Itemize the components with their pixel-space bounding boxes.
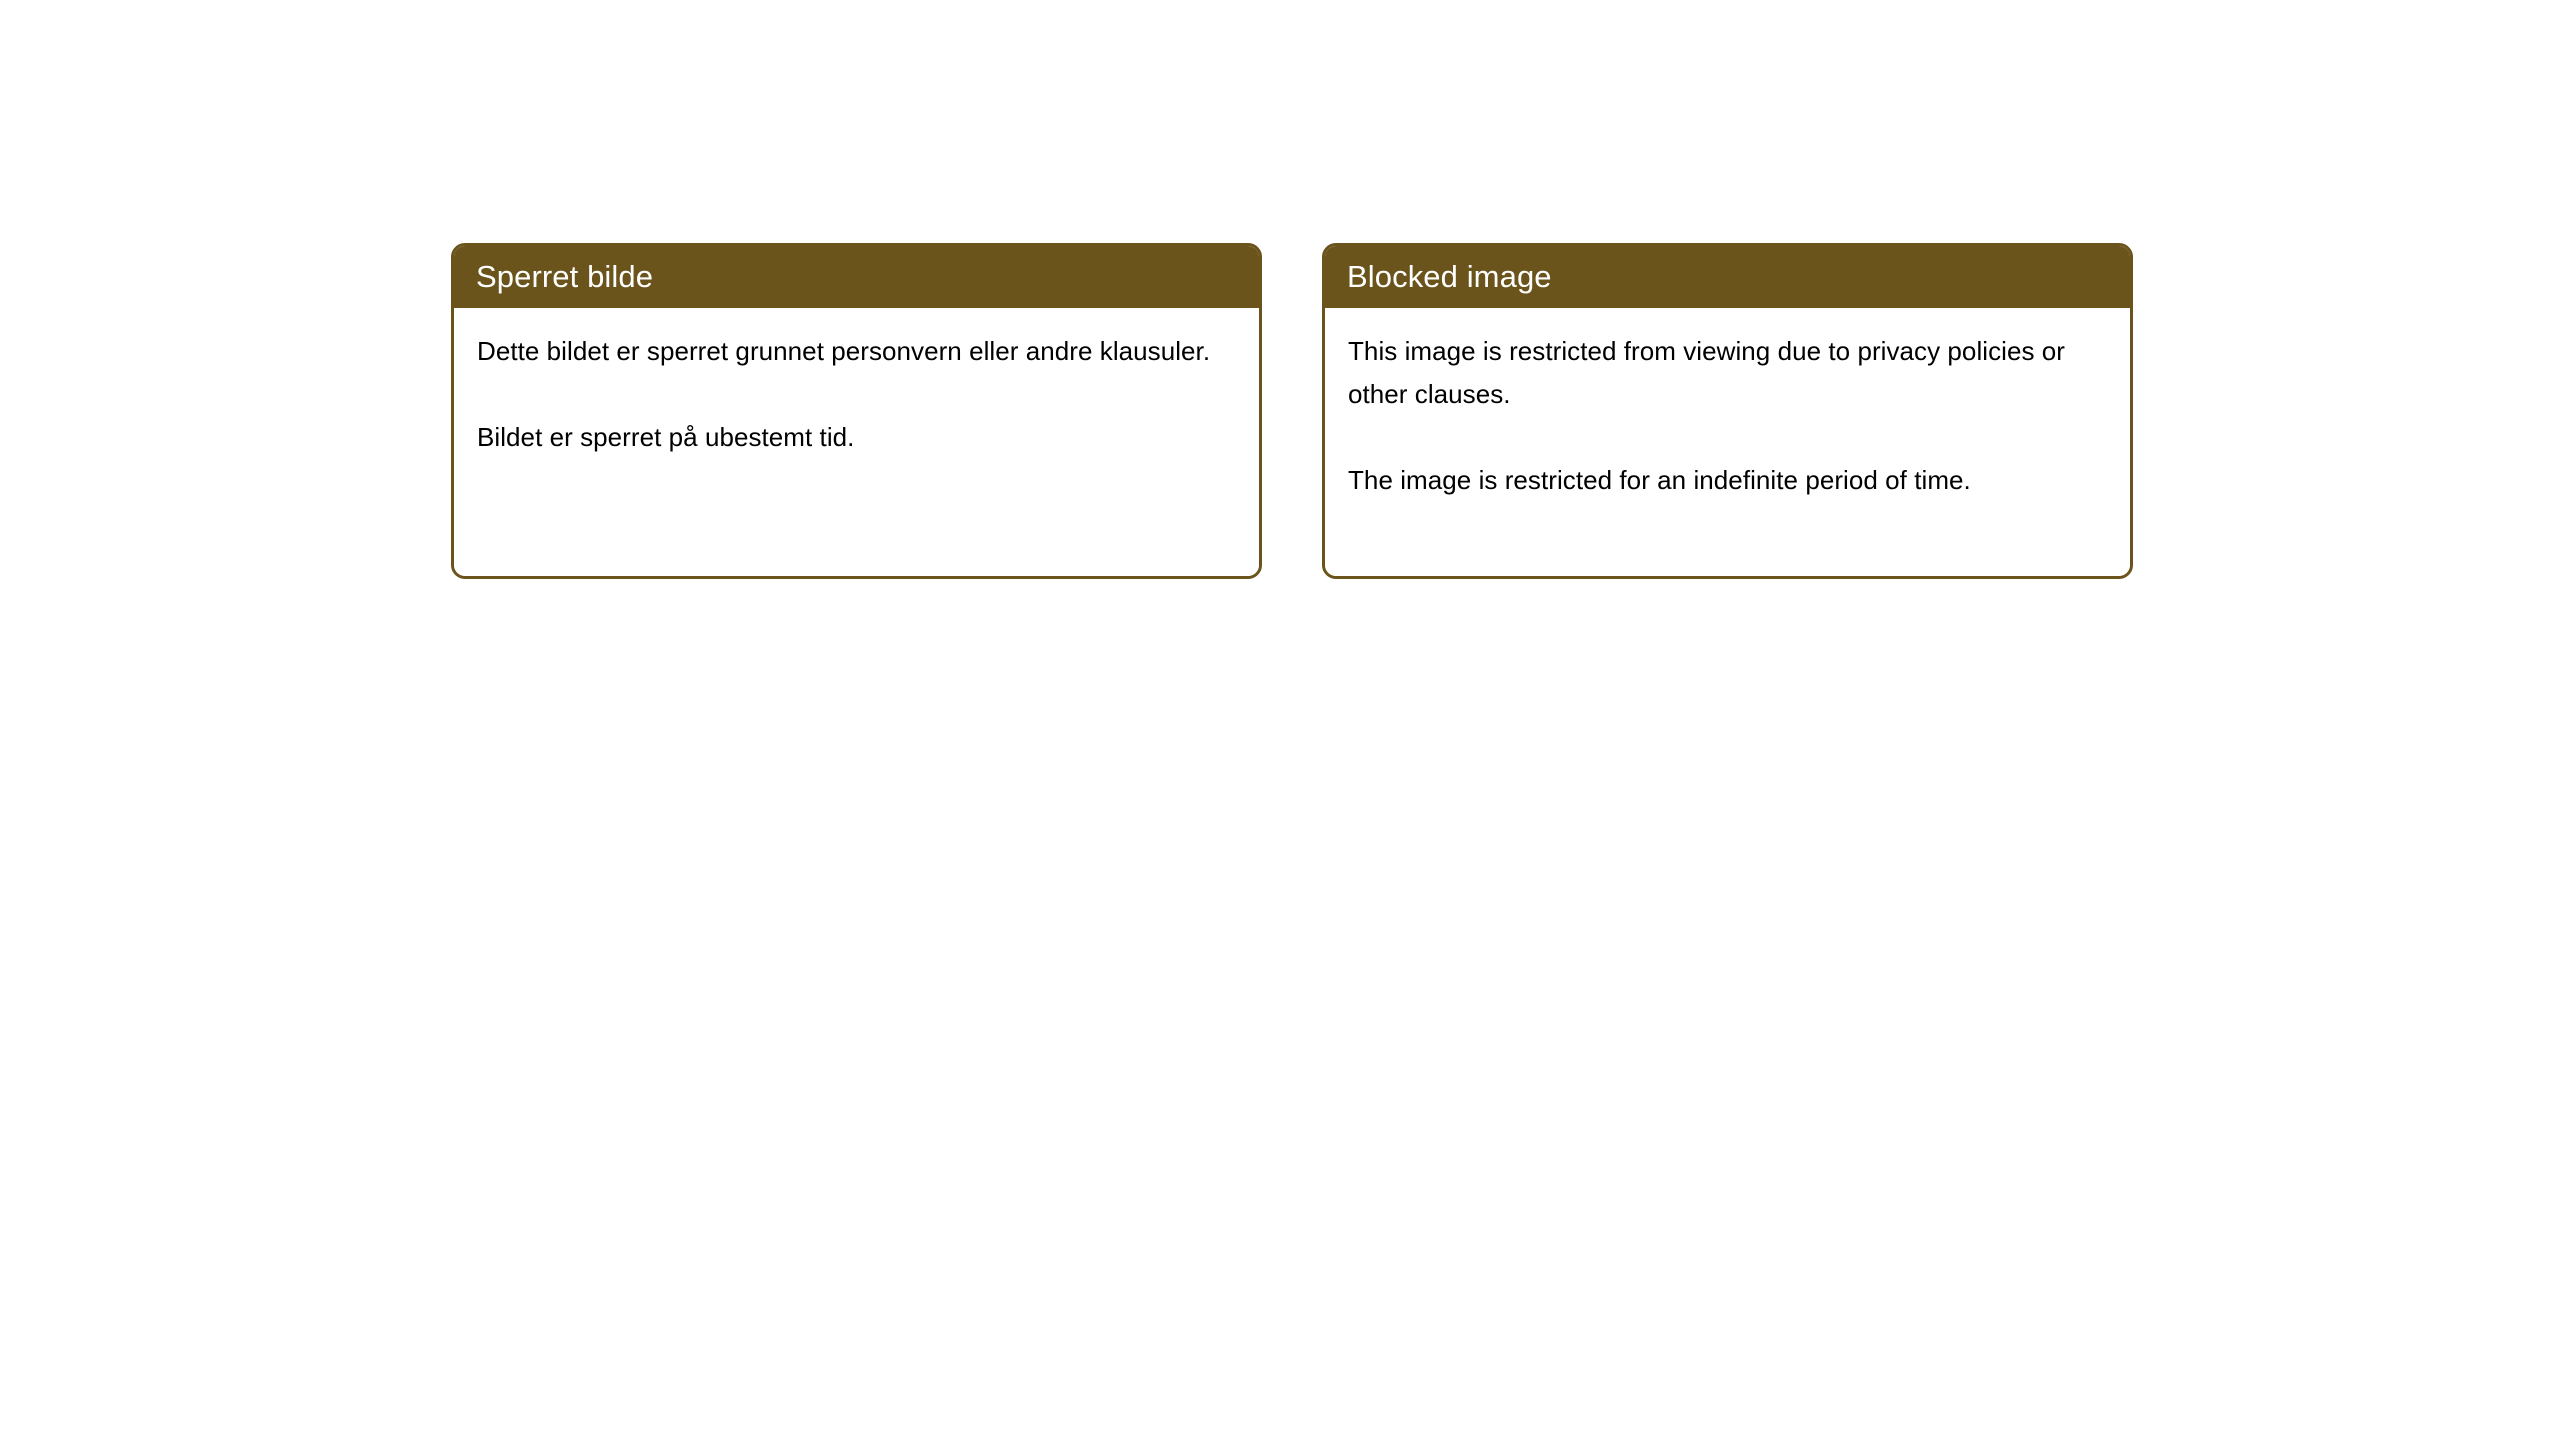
- page-canvas: Sperret bilde Dette bildet er sperret gr…: [0, 0, 2560, 1440]
- card-paragraph-en-2: The image is restricted for an indefinit…: [1348, 459, 2106, 502]
- card-paragraph-en-1: This image is restricted from viewing du…: [1348, 330, 2106, 416]
- card-paragraph-no-2: Bildet er sperret på ubestemt tid.: [477, 416, 1235, 459]
- blocked-image-card-en: Blocked image This image is restricted f…: [1322, 243, 2133, 579]
- card-title-en: Blocked image: [1347, 259, 1552, 295]
- card-header-en: Blocked image: [1325, 246, 2130, 308]
- card-title-no: Sperret bilde: [476, 259, 653, 295]
- blocked-image-notice-group: Sperret bilde Dette bildet er sperret gr…: [451, 243, 2133, 579]
- card-body-en: This image is restricted from viewing du…: [1325, 308, 2130, 576]
- card-body-no: Dette bildet er sperret grunnet personve…: [454, 308, 1259, 576]
- card-header-no: Sperret bilde: [454, 246, 1259, 308]
- blocked-image-card-no: Sperret bilde Dette bildet er sperret gr…: [451, 243, 1262, 579]
- card-paragraph-no-1: Dette bildet er sperret grunnet personve…: [477, 330, 1235, 373]
